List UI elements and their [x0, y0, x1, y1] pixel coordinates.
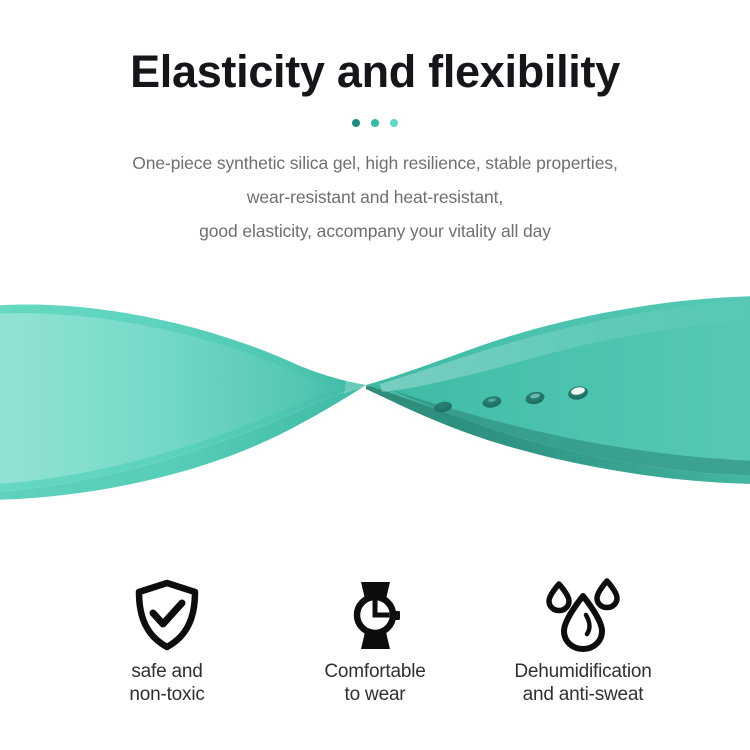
feature-dehumidification: Dehumidification and anti-sweat [479, 578, 687, 706]
shield-check-icon [132, 578, 202, 652]
description-line-1: One-piece synthetic silica gel, high res… [0, 146, 750, 180]
caption-line-1: Comfortable [324, 660, 425, 683]
product-image [0, 262, 750, 548]
feature-caption: safe and non-toxic [129, 660, 204, 706]
feature-safe-non-toxic: safe and non-toxic [63, 578, 271, 706]
feature-caption: Comfortable to wear [324, 660, 425, 706]
promo-page: Elasticity and flexibility One-piece syn… [0, 0, 750, 750]
caption-line-1: safe and [129, 660, 204, 683]
dot-light [390, 119, 398, 127]
description-line-3: good elasticity, accompany your vitality… [0, 214, 750, 248]
feature-row: safe and non-toxic Comfortable to wear [0, 578, 750, 706]
wristwatch-icon [340, 578, 410, 652]
water-droplets-icon [545, 578, 621, 652]
dot-medium [371, 119, 379, 127]
description-line-2: wear-resistant and heat-resistant, [0, 180, 750, 214]
description-text: One-piece synthetic silica gel, high res… [0, 146, 750, 248]
feature-comfortable-to-wear: Comfortable to wear [271, 578, 479, 706]
dot-separator [0, 119, 750, 127]
feature-caption: Dehumidification and anti-sweat [514, 660, 651, 706]
caption-line-2: and anti-sweat [514, 683, 651, 706]
caption-line-2: to wear [324, 683, 425, 706]
page-title: Elasticity and flexibility [0, 44, 750, 100]
caption-line-2: non-toxic [129, 683, 204, 706]
caption-line-1: Dehumidification [514, 660, 651, 683]
dot-dark [352, 119, 360, 127]
